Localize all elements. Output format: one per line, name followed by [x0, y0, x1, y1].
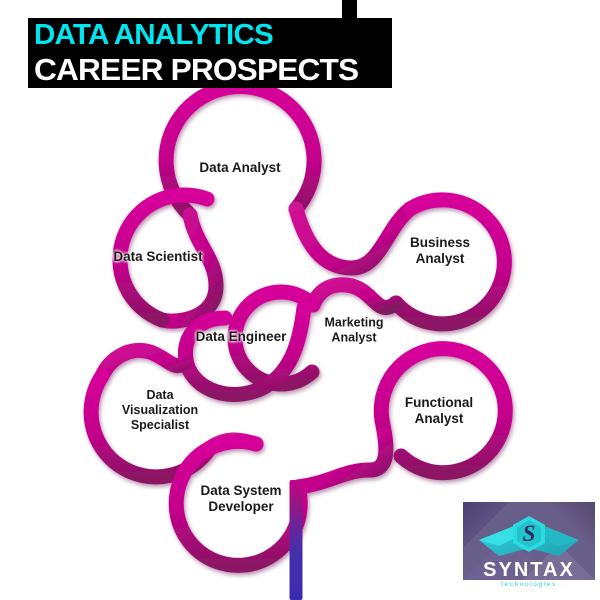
- node-label-line: Analyst: [410, 251, 470, 267]
- svg-text:S: S: [523, 521, 536, 546]
- title-line-1-bar: DATA ANALYTICS: [28, 18, 392, 52]
- infographic-canvas: DATA ANALYTICS CAREER PROSPECTS: [0, 0, 600, 600]
- logo-wordmark: SYNTAX: [483, 559, 575, 581]
- node-label-line: Visualization: [122, 403, 198, 418]
- node-label-line: Data System: [200, 483, 281, 499]
- node-label-data-engineer: Data Engineer: [196, 329, 287, 345]
- node-label-line: Specialist: [122, 417, 198, 432]
- connector-system-functional: [298, 420, 386, 487]
- connector-engineer-visualization: [102, 350, 186, 376]
- title-line-2-text: CAREER PROSPECTS: [34, 52, 358, 88]
- title-banner: DATA ANALYTICS CAREER PROSPECTS: [28, 18, 392, 88]
- title-line-1-text: DATA ANALYTICS: [34, 18, 273, 52]
- connector-business-marketing: [313, 285, 396, 308]
- node-label-line: Developer: [200, 499, 281, 515]
- logo-tagline: technologies: [501, 581, 557, 588]
- node-label-marketing-analyst: Marketing Analyst: [324, 315, 383, 345]
- node-label-business-analyst: Business Analyst: [410, 235, 470, 267]
- title-line-2-bar: CAREER PROSPECTS: [28, 52, 392, 88]
- connector-analyst-business: [296, 209, 410, 268]
- node-label-line: Business: [410, 235, 470, 251]
- node-label-data-visualization-specialist: Data Visualization Specialist: [122, 388, 198, 432]
- node-label-line: Analyst: [405, 411, 473, 427]
- tree-stem: [290, 480, 303, 600]
- node-label-line: Data Analyst: [199, 160, 280, 176]
- node-label-line: Analyst: [324, 330, 383, 345]
- syntax-logo: S SYNTAX technologies: [463, 500, 595, 592]
- node-label-line: Functional: [405, 395, 473, 411]
- node-label-line: Data Engineer: [196, 329, 287, 345]
- node-label-line: Marketing: [324, 315, 383, 330]
- node-label-data-scientist: Data Scientist: [113, 249, 202, 265]
- node-label-data-analyst: Data Analyst: [199, 160, 280, 176]
- node-label-data-system-developer: Data System Developer: [200, 483, 281, 515]
- syntax-logo-svg: S SYNTAX technologies: [463, 500, 595, 592]
- connector-analyst-scientist: [162, 215, 216, 321]
- node-label-line: Data Scientist: [113, 249, 202, 265]
- title-accent-tick: [342, 0, 357, 34]
- node-label-functional-analyst: Functional Analyst: [405, 395, 473, 427]
- node-label-line: Data: [122, 388, 198, 403]
